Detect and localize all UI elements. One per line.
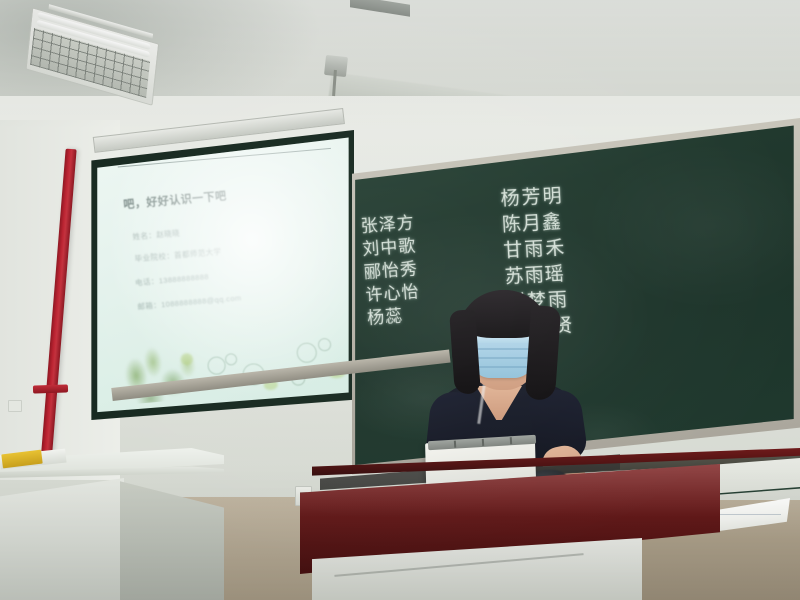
bubble-icon	[317, 338, 331, 352]
chalk-line: 苏雨瑶	[504, 260, 571, 289]
chalk-line: 杨芳明	[500, 182, 567, 211]
pole-crossbar	[33, 384, 68, 393]
bubble-icon	[296, 342, 318, 364]
chalk-line: 杨蕊	[366, 304, 421, 331]
slide-body-line: 毕业院校：首都师范大学	[134, 246, 222, 265]
chalk-line: 许心怡	[365, 281, 420, 308]
slide-title: 吧，好好认识一下吧	[123, 187, 228, 212]
storage-cabinet	[0, 448, 224, 600]
bubble-icon	[207, 356, 227, 375]
chalk-line: 陈月鑫	[501, 208, 568, 237]
slide-divider-rule	[118, 148, 331, 168]
wall-switch-plate[interactable]	[8, 400, 22, 412]
slide-body-line: 姓名：赵晓晓	[132, 227, 180, 242]
lectern	[300, 446, 800, 600]
slide-body-line: 电话：13888888888	[135, 271, 210, 288]
classroom-photo: 吧，好好认识一下吧 姓名：赵晓晓 毕业院校：首都师范大学 电话：13888888…	[0, 0, 800, 600]
cabinet-side-panel	[120, 468, 224, 600]
cabinet-front-panel	[0, 478, 124, 600]
chalk-line: 甘雨禾	[503, 234, 570, 263]
bubble-icon	[224, 353, 237, 366]
chalk-name-column-left: 张泽方 刘中歌 郦怡秀 许心怡 杨蕊	[360, 212, 422, 330]
